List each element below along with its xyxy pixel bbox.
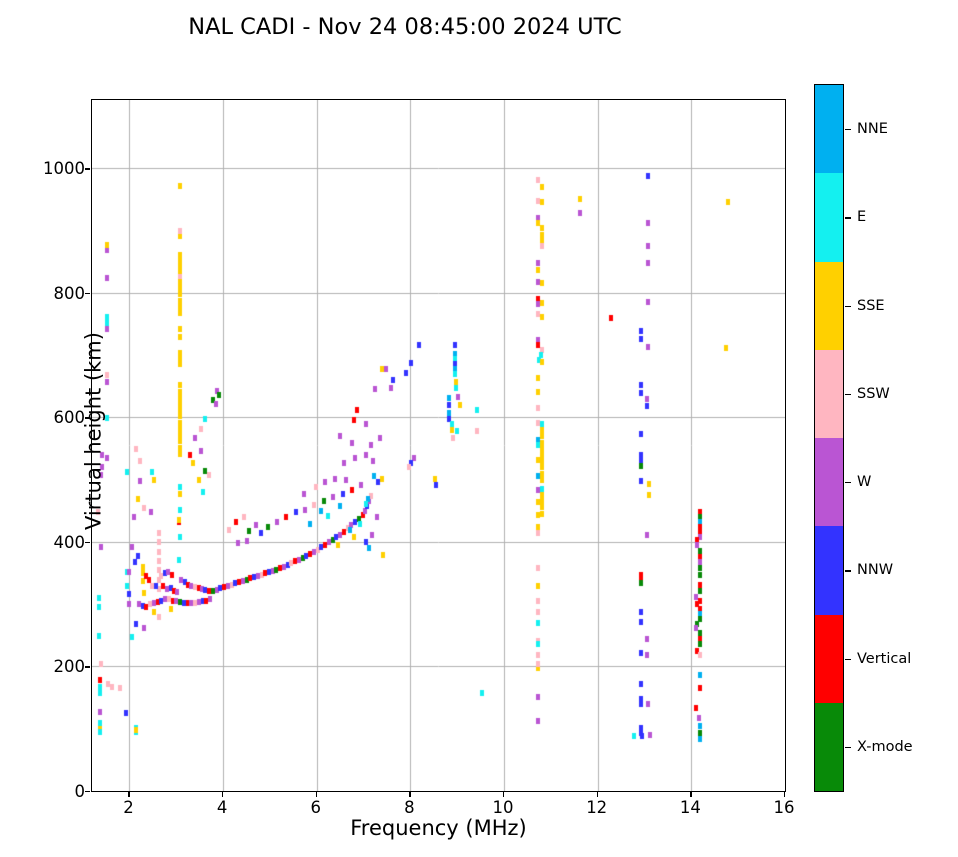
y-tick-label: 800 xyxy=(25,284,85,303)
x-tick-label: 14 xyxy=(660,798,720,817)
colorbar-segment-nne[interactable] xyxy=(815,85,843,173)
colorbar-segment-e[interactable] xyxy=(815,173,843,261)
colorbar-segment-ssw[interactable] xyxy=(815,350,843,438)
page-title: NAL CADI - Nov 24 08:45:00 2024 UTC xyxy=(0,14,810,40)
colorbar-label-x-mode: X-mode xyxy=(857,739,913,755)
colorbar-tick-mark xyxy=(845,659,851,660)
y-tick-mark xyxy=(85,791,90,792)
colorbar-label-w: W xyxy=(857,474,871,490)
x-tick-mark xyxy=(409,792,410,797)
y-tick-label: 200 xyxy=(25,657,85,676)
ionogram-figure: NAL CADI - Nov 24 08:45:00 2024 UTC 0200… xyxy=(0,0,958,857)
colorbar-label-nnw: NNW xyxy=(857,562,893,578)
x-tick-mark xyxy=(503,792,504,797)
y-tick-label: 400 xyxy=(25,533,85,552)
colorbar-segment-w[interactable] xyxy=(815,438,843,526)
colorbar-label-sse: SSE xyxy=(857,298,885,314)
x-tick-label: 4 xyxy=(192,798,252,817)
colorbar-tick-mark xyxy=(845,570,851,571)
x-tick-label: 6 xyxy=(286,798,346,817)
y-tick-label: 600 xyxy=(25,408,85,427)
x-tick-label: 2 xyxy=(98,798,158,817)
y-tick-mark xyxy=(85,293,90,294)
colorbar-segment-x-mode[interactable] xyxy=(815,703,843,791)
colorbar-label-e: E xyxy=(857,209,866,225)
colorbar-label-ssw: SSW xyxy=(857,386,890,402)
y-tick-mark xyxy=(85,666,90,667)
x-tick-mark xyxy=(128,792,129,797)
colorbar-tick-mark xyxy=(845,482,851,483)
x-axis-label: Frequency (MHz) xyxy=(91,816,786,840)
y-tick-label: 0 xyxy=(25,782,85,801)
colorbar-label-nne: NNE xyxy=(857,121,888,137)
x-tick-label: 8 xyxy=(379,798,439,817)
scatter-canvas[interactable] xyxy=(92,100,785,791)
x-tick-mark xyxy=(222,792,223,797)
colorbar-tick-mark xyxy=(845,129,851,130)
colorbar-segment-nnw[interactable] xyxy=(815,526,843,614)
y-tick-mark xyxy=(85,168,90,169)
y-axis-tick-labels: 02004006008001000 xyxy=(13,99,85,792)
colorbar-tick-mark xyxy=(845,394,851,395)
y-tick-mark xyxy=(85,417,90,418)
colorbar[interactable] xyxy=(814,84,844,792)
colorbar-tick-labels: NNEESSESSWWNNWVerticalX-mode xyxy=(845,84,945,792)
colorbar-segment-vertical[interactable] xyxy=(815,615,843,703)
x-tick-mark xyxy=(784,792,785,797)
x-tick-label: 16 xyxy=(754,798,814,817)
y-axis-label: Virtual height (km) xyxy=(82,85,106,778)
x-tick-mark xyxy=(597,792,598,797)
x-tick-label: 10 xyxy=(473,798,533,817)
colorbar-tick-mark xyxy=(845,747,851,748)
colorbar-segment-sse[interactable] xyxy=(815,262,843,350)
x-tick-mark xyxy=(690,792,691,797)
plot-area[interactable] xyxy=(91,99,786,792)
y-tick-mark xyxy=(85,542,90,543)
colorbar-label-vertical: Vertical xyxy=(857,651,911,667)
x-tick-mark xyxy=(316,792,317,797)
colorbar-tick-mark xyxy=(845,217,851,218)
x-tick-label: 12 xyxy=(567,798,627,817)
colorbar-tick-mark xyxy=(845,306,851,307)
y-tick-label: 1000 xyxy=(25,159,85,178)
